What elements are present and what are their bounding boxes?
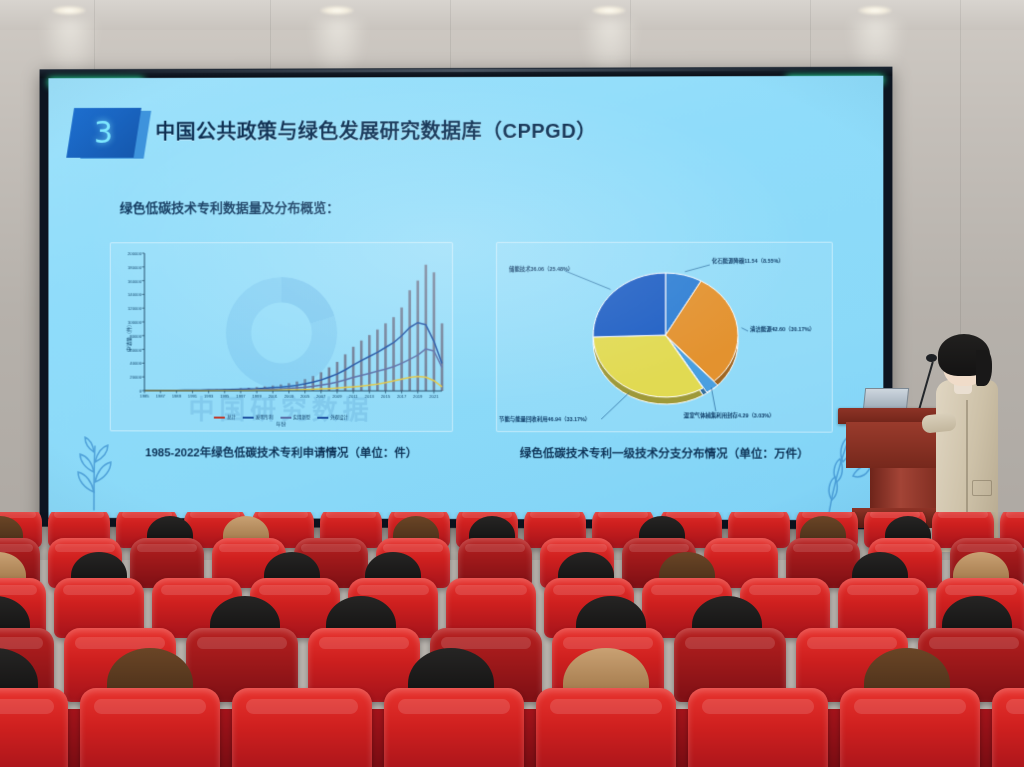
auditorium-seat — [384, 688, 524, 767]
ceiling-light — [858, 6, 892, 15]
legend-item: 外观设计 — [318, 415, 348, 421]
x-axis-tick-label: 2017 — [397, 394, 406, 399]
auditorium-seat — [232, 688, 372, 767]
technology-branch-pie-panel: 化石能源降碳11.54（8.55%）清洁能源42.60（30.17%）温室气体捕… — [496, 242, 833, 433]
y-axis-tick-label: 100000 — [111, 319, 142, 324]
legend-label: 发明专利 — [256, 415, 273, 421]
pie-slice-label: 化石能源降碳11.54（8.55%） — [712, 257, 784, 265]
auditorium-seat — [688, 688, 828, 767]
lecture-hall-scene: 3 中国公共政策与绿色发展研究数据库（CPPGD） 绿色低碳技术专利数据量及分布… — [0, 0, 1024, 767]
legend-swatch — [243, 417, 254, 419]
legend-swatch — [280, 417, 291, 419]
chart-legend: 总计发明专利实用新型外观设计 — [111, 414, 452, 421]
y-axis-tick-label: 140000 — [111, 292, 142, 297]
legend-swatch — [318, 417, 329, 419]
legend-item: 总计 — [214, 415, 236, 421]
x-axis-tick-label: 2019 — [413, 394, 422, 399]
ceiling-light — [592, 6, 626, 15]
projection-screen: 3 中国公共政策与绿色发展研究数据库（CPPGD） 绿色低碳技术专利数据量及分布… — [40, 67, 893, 530]
y-axis-tick-label: 180000 — [111, 264, 142, 269]
x-axis-tick-label: 1989 — [172, 394, 181, 399]
microphone-stem — [918, 362, 934, 411]
microphone-icon — [926, 354, 937, 362]
legend-swatch — [214, 417, 225, 419]
legend-label: 外观设计 — [330, 415, 348, 421]
x-axis-tick-label: 2007 — [316, 394, 325, 399]
badge-shape: 3 — [66, 108, 141, 158]
patent-trend-chart-panel: 中国研究数据 申请量（件） 年份 02000040000600008000010… — [110, 242, 453, 432]
pie-slice-label: 节能与能量回收利用46.94（33.17%） — [499, 415, 590, 423]
legend-label: 总计 — [227, 415, 236, 421]
section-number-text: 3 — [94, 115, 113, 150]
pie-slice-label: 清洁能源42.60（30.17%） — [750, 325, 815, 333]
x-axis-tick-label: 1985 — [140, 394, 149, 399]
x-axis-tick-label: 2021 — [429, 394, 438, 399]
legend-item: 发明专利 — [243, 415, 273, 421]
bezel-reflection — [107, 68, 823, 73]
x-axis-tick-label: 1987 — [156, 394, 165, 399]
legend-item: 实用新型 — [280, 415, 310, 421]
y-axis-tick-label: 120000 — [111, 306, 142, 311]
slide-subtitle: 绿色低碳技术专利数据量及分布概览： — [120, 197, 340, 216]
laptop-screen — [863, 388, 909, 410]
y-axis-tick-label: 20000 — [111, 374, 142, 379]
podium-column — [870, 468, 946, 512]
x-axis-tick-label: 1999 — [252, 394, 261, 399]
x-axis-tick-label: 1995 — [220, 394, 229, 399]
ceiling-light — [52, 6, 86, 15]
x-axis-tick-label: 1993 — [204, 394, 213, 399]
y-axis-tick-label: 40000 — [111, 361, 142, 366]
x-axis-label: 年份 — [111, 420, 452, 428]
x-axis-tick-label: 2005 — [300, 394, 309, 399]
y-axis-tick-label: 0 — [111, 388, 142, 393]
x-axis-tick-label: 2013 — [365, 394, 374, 399]
x-axis-tick-label: 1997 — [236, 394, 245, 399]
y-axis-tick-label: 200000 — [111, 251, 142, 256]
legend-label: 实用新型 — [293, 415, 310, 421]
pie-slice-label: 温室气体捕集利用封存4.29（3.03%） — [684, 411, 775, 419]
x-axis-tick-label: 2009 — [333, 394, 342, 399]
section-number-badge: 3 — [70, 108, 147, 160]
speaker-hair-side — [976, 350, 992, 386]
left-chart-caption: 1985-2022年绿色低碳技术专利申请情况（单位：件） — [110, 444, 453, 461]
auditorium-seat — [992, 688, 1024, 767]
presentation-slide: 3 中国公共政策与绿色发展研究数据库（CPPGD） 绿色低碳技术专利数据量及分布… — [48, 76, 883, 521]
x-axis-tick-label: 2003 — [284, 394, 293, 399]
x-axis-tick-label: 2015 — [381, 394, 390, 399]
auditorium-seat — [536, 688, 676, 767]
auditorium-seat — [0, 688, 68, 767]
x-axis-tick-label: 1991 — [188, 394, 197, 399]
auditorium-seat — [80, 688, 220, 767]
speaker-coat-pocket — [972, 480, 992, 496]
audience-seating — [0, 512, 1024, 767]
y-axis-tick-label: 160000 — [111, 278, 142, 283]
pie-slice-label: 储能技术36.06（25.48%） — [509, 265, 573, 273]
x-axis-tick-label: 2011 — [349, 394, 358, 399]
ceiling-light — [320, 6, 354, 15]
auditorium-seat — [840, 688, 980, 767]
x-axis-tick-label: 2001 — [268, 394, 277, 399]
patent-trend-chart — [111, 243, 453, 432]
y-axis-tick-label: 60000 — [111, 347, 142, 352]
y-axis-tick-label: 80000 — [111, 333, 142, 338]
right-chart-caption: 绿色低碳技术专利一级技术分支分布情况（单位：万件） — [496, 445, 833, 462]
slide-title: 中国公共政策与绿色发展研究数据库（CPPGD） — [155, 115, 596, 145]
